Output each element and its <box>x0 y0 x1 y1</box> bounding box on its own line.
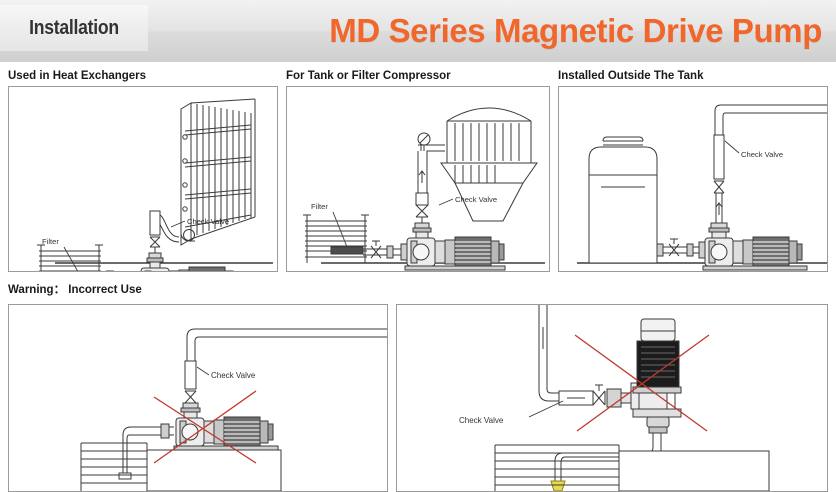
warning-heading: Warning： Incorrect Use <box>8 281 836 297</box>
header-tab-label: Installation <box>29 17 119 40</box>
panel-heat-exchangers: Used in Heat Exchangers <box>0 62 278 278</box>
discharge-pipe <box>715 105 828 135</box>
discharge-pipe <box>418 145 445 195</box>
warning-panel-pump-above-tank: Check Valve <box>8 304 388 492</box>
annotation-check-valve: Check Valve <box>187 217 229 226</box>
annotation-check-valve: Check Valve <box>455 195 497 204</box>
panel-heading-heat-exchangers: Used in Heat Exchangers <box>8 70 278 82</box>
warning-section: Warning： Incorrect Use <box>0 278 836 492</box>
check-valve <box>714 135 724 193</box>
diagram-frame-tank-filter-compressor: Filter Check Valve <box>286 86 550 272</box>
pump-discharge-flange <box>709 223 729 238</box>
suction-pipe <box>97 271 141 272</box>
pressure-gauge <box>418 133 430 151</box>
vertical-motor-pump <box>631 319 681 433</box>
magnetic-drive-pump <box>705 238 743 266</box>
diagram-incorrect-vertical-suction-lift: Check Valve <box>397 305 827 491</box>
discharge-pipe <box>187 329 387 361</box>
discharge-pipe <box>539 305 559 401</box>
diagram-outside-tank: Check Valve <box>559 87 828 272</box>
panel-tank-filter-compressor: For Tank or Filter Compressor <box>278 62 550 278</box>
suction-pipe <box>363 241 407 260</box>
foot-valve <box>551 481 565 491</box>
filter-cartridge <box>331 247 363 254</box>
annotation-filter: Filter <box>42 237 59 246</box>
warning-heading-wrap: Warning： Incorrect Use <box>0 278 836 304</box>
annotation-check-valve: Check Valve <box>459 416 504 425</box>
panel-heading-outside-tank: Installed Outside The Tank <box>558 70 828 82</box>
panel-heading-tank-filter-compressor: For Tank or Filter Compressor <box>286 70 550 82</box>
pump-discharge-flange <box>413 223 431 238</box>
warning-panel-vertical-suction-lift: Check Valve <box>396 304 828 492</box>
top-diagram-row: Used in Heat Exchangers <box>0 62 836 278</box>
magnetic-drive-pump <box>407 238 445 266</box>
annotation-check-valve: Check Valve <box>211 371 256 380</box>
closed-tank <box>589 137 657 263</box>
pedestal <box>147 450 281 491</box>
annotation-check-valve: Check Valve <box>741 150 783 159</box>
page-header: Installation MD Series Magnetic Drive Pu… <box>0 0 836 62</box>
check-valve <box>185 361 196 403</box>
warning-panels: Check Valve <box>0 304 836 492</box>
union-fitting <box>607 389 631 407</box>
diagram-frame-outside-tank: Check Valve <box>558 86 828 272</box>
annotation-filter: Filter <box>311 202 328 211</box>
check-valve <box>416 193 428 223</box>
diagram-heat-exchangers: Filter Check Valve <box>9 87 278 272</box>
page-title: MD Series Magnetic Drive Pump <box>329 12 822 50</box>
panel-outside-tank: Installed Outside The Tank <box>550 62 836 278</box>
pump-discharge-flange <box>147 253 163 268</box>
diagram-incorrect-pump-above-tank: Check Valve <box>9 305 387 491</box>
header-tab-installation: Installation <box>0 5 148 51</box>
diagram-frame-heat-exchangers: Filter Check Valve <box>8 86 278 272</box>
magnetic-drive-pump <box>141 268 179 272</box>
union-fitting <box>687 244 693 256</box>
diagram-tank-filter-compressor: Filter Check Valve <box>287 87 550 272</box>
installation-diagram-page: Installation MD Series Magnetic Drive Pu… <box>0 0 836 492</box>
check-valve <box>559 385 605 405</box>
open-tank <box>303 215 369 263</box>
check-valve <box>150 211 160 253</box>
open-tank <box>81 443 147 491</box>
filter-vessel <box>441 108 537 221</box>
